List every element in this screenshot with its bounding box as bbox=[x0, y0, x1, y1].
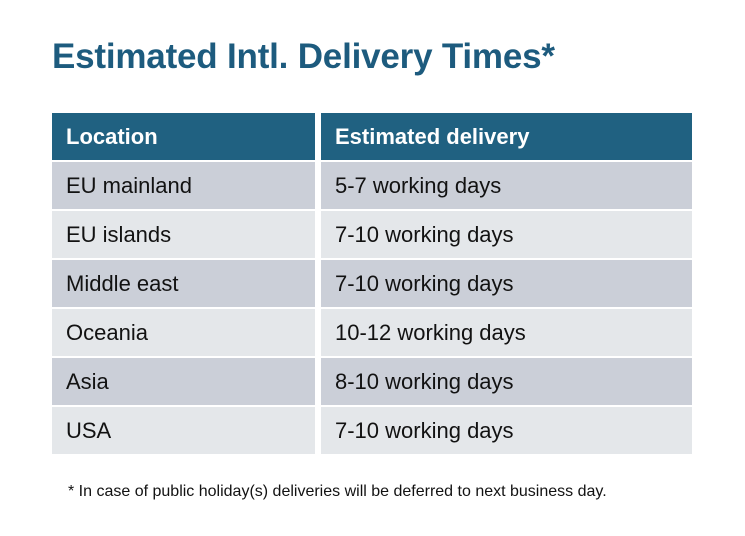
cell-location: Oceania bbox=[52, 309, 315, 356]
cell-estimated-delivery: 7-10 working days bbox=[321, 211, 692, 258]
cell-estimated-delivery: 10-12 working days bbox=[321, 309, 692, 356]
column-header-location: Location bbox=[52, 113, 315, 160]
cell-location: Asia bbox=[52, 358, 315, 405]
table-row: Oceania 10-12 working days bbox=[52, 309, 692, 356]
cell-estimated-delivery: 8-10 working days bbox=[321, 358, 692, 405]
table-row: EU mainland 5-7 working days bbox=[52, 162, 692, 209]
table-row: USA 7-10 working days bbox=[52, 407, 692, 454]
delivery-times-page: Estimated Intl. Delivery Times* Location… bbox=[0, 0, 745, 536]
page-title: Estimated Intl. Delivery Times* bbox=[52, 36, 555, 78]
table-row: Middle east 7-10 working days bbox=[52, 260, 692, 307]
cell-location: EU islands bbox=[52, 211, 315, 258]
cell-estimated-delivery: 7-10 working days bbox=[321, 260, 692, 307]
cell-estimated-delivery: 7-10 working days bbox=[321, 407, 692, 454]
footnote-text: * In case of public holiday(s) deliverie… bbox=[68, 481, 607, 503]
cell-location: Middle east bbox=[52, 260, 315, 307]
table-row: EU islands 7-10 working days bbox=[52, 211, 692, 258]
table-row: Asia 8-10 working days bbox=[52, 358, 692, 405]
table-header-row: Location Estimated delivery bbox=[52, 113, 692, 160]
cell-location: USA bbox=[52, 407, 315, 454]
delivery-times-table: Location Estimated delivery EU mainland … bbox=[52, 113, 692, 456]
cell-location: EU mainland bbox=[52, 162, 315, 209]
cell-estimated-delivery: 5-7 working days bbox=[321, 162, 692, 209]
column-header-estimated-delivery: Estimated delivery bbox=[321, 113, 692, 160]
